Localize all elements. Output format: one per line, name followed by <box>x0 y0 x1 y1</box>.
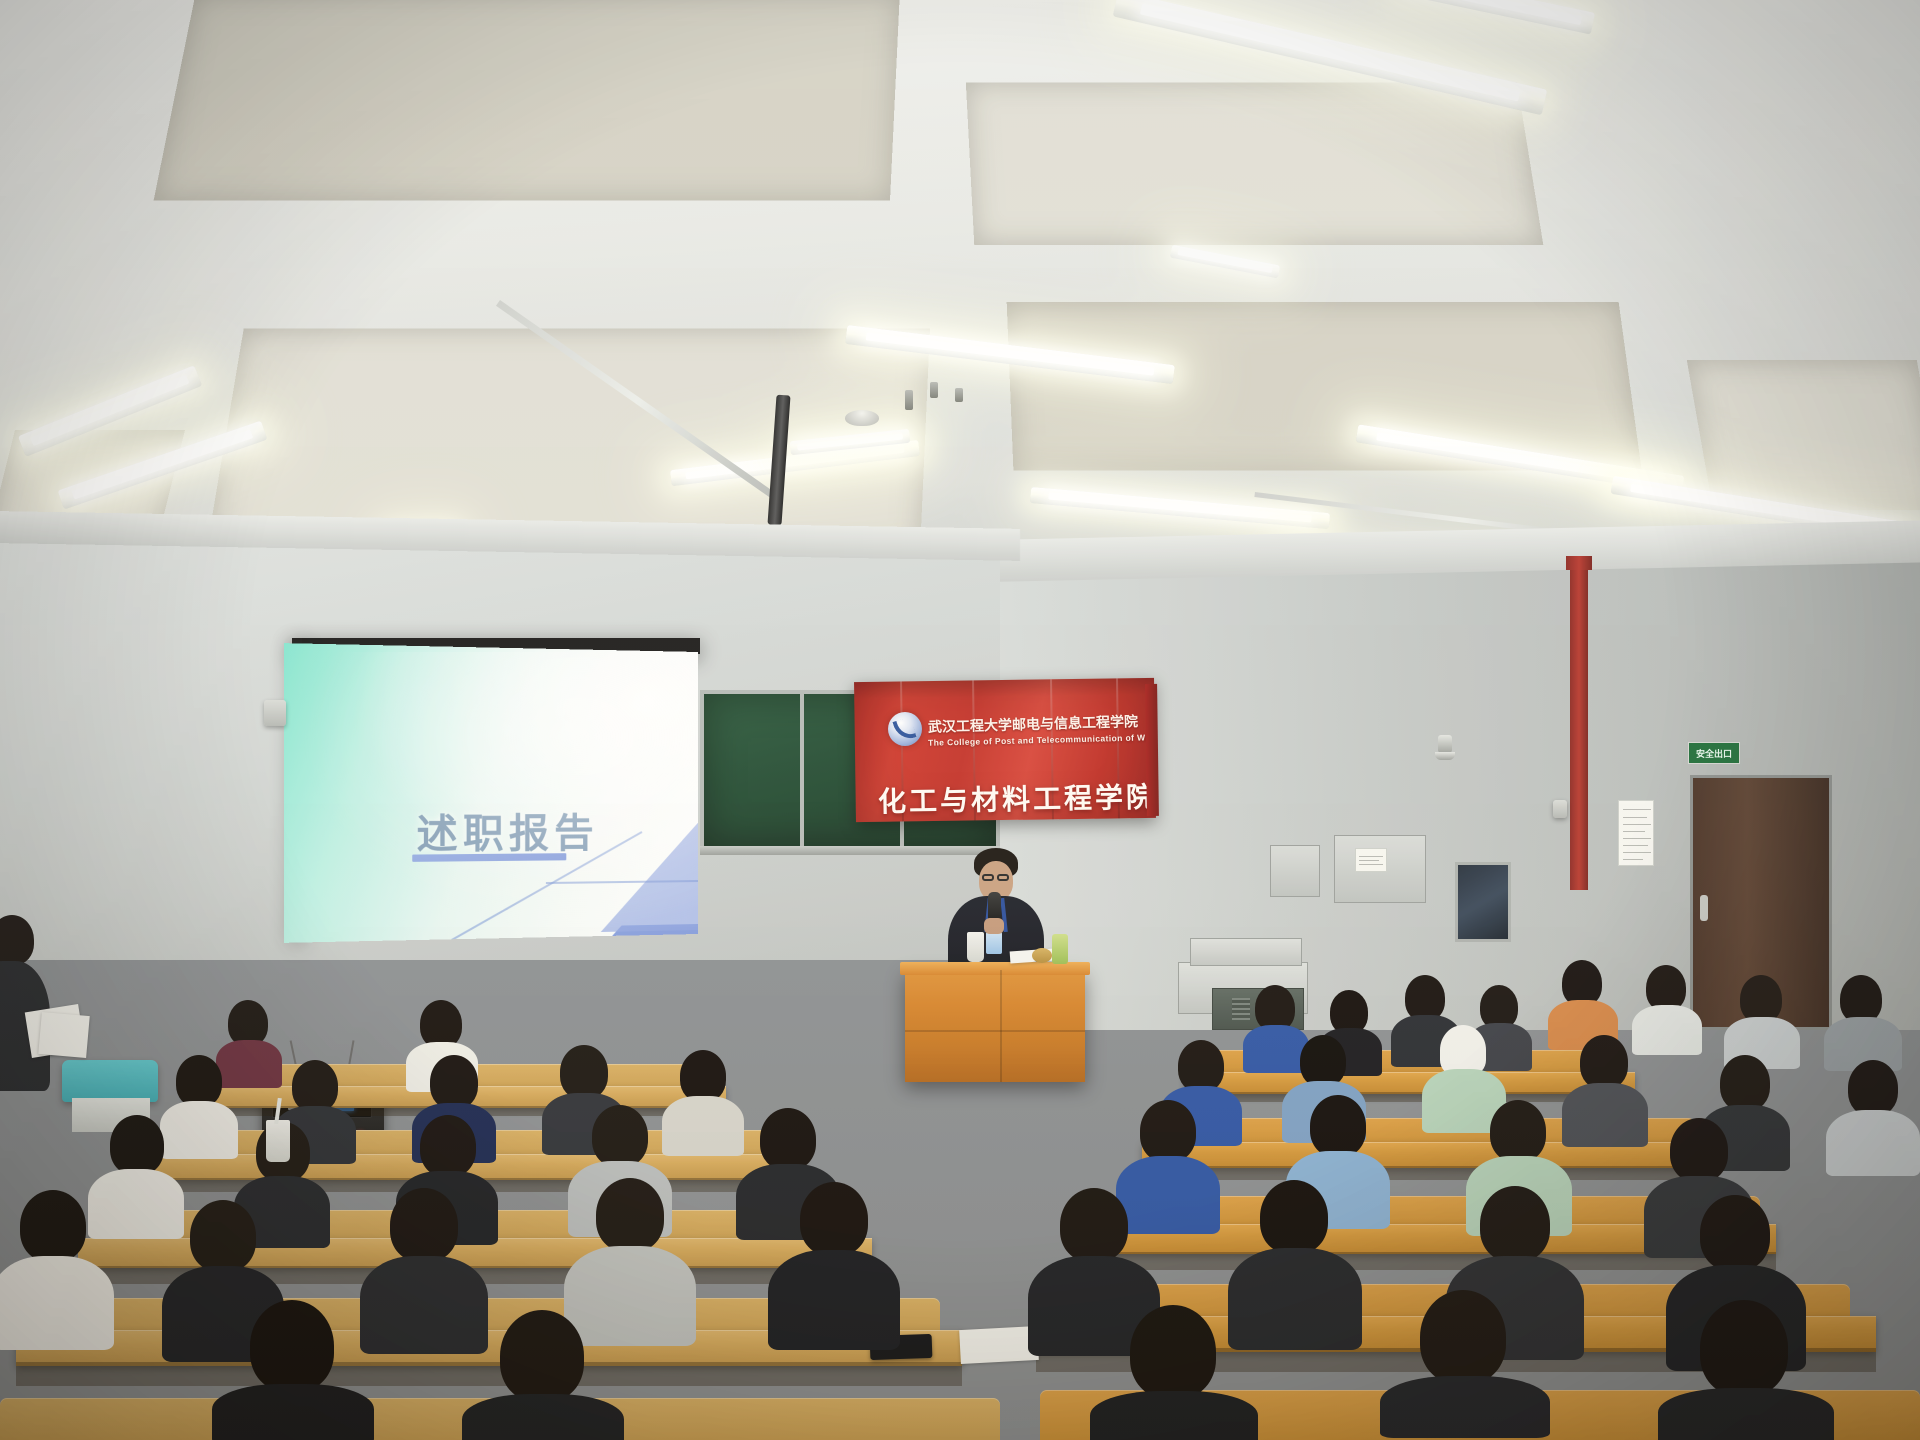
smoke-detector-icon <box>845 410 879 426</box>
ceiling-coffer <box>1007 302 1642 470</box>
wall-notice <box>1355 848 1387 872</box>
sprinkler-head-icon <box>905 390 913 410</box>
interior-window <box>1455 862 1511 942</box>
presentation-slide: 述职报告 <box>284 643 698 943</box>
blackboard-divider <box>800 690 804 850</box>
door-handle-icon[interactable] <box>1700 895 1708 921</box>
university-logo-icon <box>888 712 922 746</box>
drink-cup <box>266 1120 290 1162</box>
banner-edge <box>1145 684 1159 816</box>
equipment-cabinet <box>1190 938 1302 966</box>
electrical-panel <box>1270 845 1320 897</box>
glasses-icon <box>997 874 1009 881</box>
wall-speaker-icon <box>264 700 286 726</box>
structural-pillar <box>1570 560 1588 890</box>
slide-title: 述职报告 <box>416 802 598 861</box>
paper-cup <box>967 932 984 962</box>
banner-headline-cn: 化工与材料工程学院 <box>878 776 1158 821</box>
cabinet-vent-icon <box>1232 998 1250 1020</box>
ceiling-coffer <box>966 83 1543 246</box>
glasses-icon <box>982 874 994 881</box>
lecture-hall-photo: 述职报告 武汉工程大学邮电与信息工程学院 The College of Post… <box>0 0 1920 1440</box>
sprinkler-head-icon <box>930 382 938 398</box>
slide-decoration-shape <box>601 800 698 932</box>
wall-speaker-icon <box>1553 800 1567 818</box>
classroom-notice-sheet <box>1618 800 1654 866</box>
handheld-papers <box>38 1012 89 1058</box>
teal-plastic-chair[interactable] <box>62 1060 158 1102</box>
ceiling-coffer <box>154 0 900 200</box>
fruit-item <box>1032 948 1052 963</box>
green-bottle <box>1052 934 1068 964</box>
podium <box>905 970 1085 1082</box>
sprinkler-head-icon <box>955 388 963 402</box>
ceiling-coffer <box>1687 360 1920 510</box>
presenter-hand <box>984 918 1004 934</box>
slide-title-underline <box>412 853 566 862</box>
structural-pillar <box>1566 556 1592 570</box>
paper-handout <box>959 1326 1039 1364</box>
security-camera-icon <box>1438 735 1452 753</box>
id-badge <box>986 932 1002 954</box>
projection-screen: 述职报告 <box>284 643 698 943</box>
security-camera-icon <box>1435 752 1455 760</box>
exit-sign-label: 安全出口 <box>1696 747 1732 760</box>
emergency-exit-sign: 安全出口 <box>1688 742 1740 764</box>
